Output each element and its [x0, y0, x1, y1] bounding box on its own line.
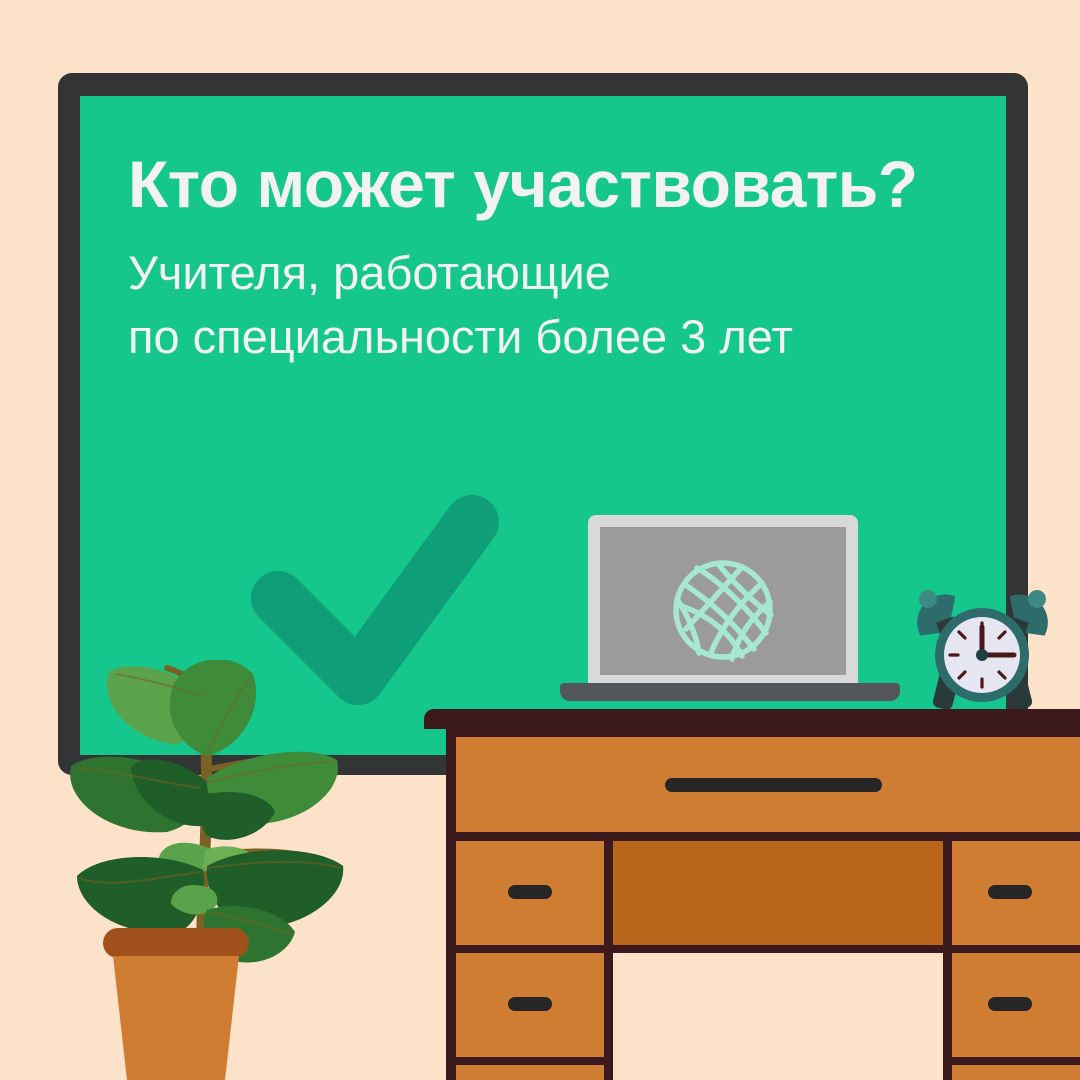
drawer-right-3[interactable] [952, 1065, 1080, 1080]
laptop-base [560, 683, 900, 701]
drawer-right-2-handle[interactable] [988, 997, 1032, 1011]
blackboard-text-block: Кто может участвовать? Учителя, работающ… [128, 150, 1008, 368]
pot-rim [103, 928, 249, 958]
drawer-left-3[interactable] [456, 1065, 604, 1080]
subtitle-line-2: по специальности более 3 лет [128, 305, 1008, 368]
desk-center-panel [613, 841, 943, 945]
desk-top [424, 709, 1080, 729]
poster-canvas: Кто может участвовать? Учителя, работающ… [0, 0, 1080, 1080]
potted-plant-icon [55, 660, 415, 1080]
apron-drawer-handle[interactable] [665, 778, 882, 792]
subtitle-line-1: Учителя, работающие [128, 241, 1008, 304]
page-subtitle: Учителя, работающие по специальности бол… [128, 241, 1008, 368]
page-title: Кто может участвовать? [128, 150, 1008, 219]
drawer-left-2-handle[interactable] [508, 997, 552, 1011]
desk-legroom [613, 953, 943, 1080]
pot-body [113, 956, 239, 1080]
drawer-right-1-handle[interactable] [988, 885, 1032, 899]
drawer-left-1-handle[interactable] [508, 885, 552, 899]
laptop-icon [560, 515, 900, 720]
globe-icon [670, 557, 776, 663]
alarm-clock-icon [910, 585, 1055, 715]
